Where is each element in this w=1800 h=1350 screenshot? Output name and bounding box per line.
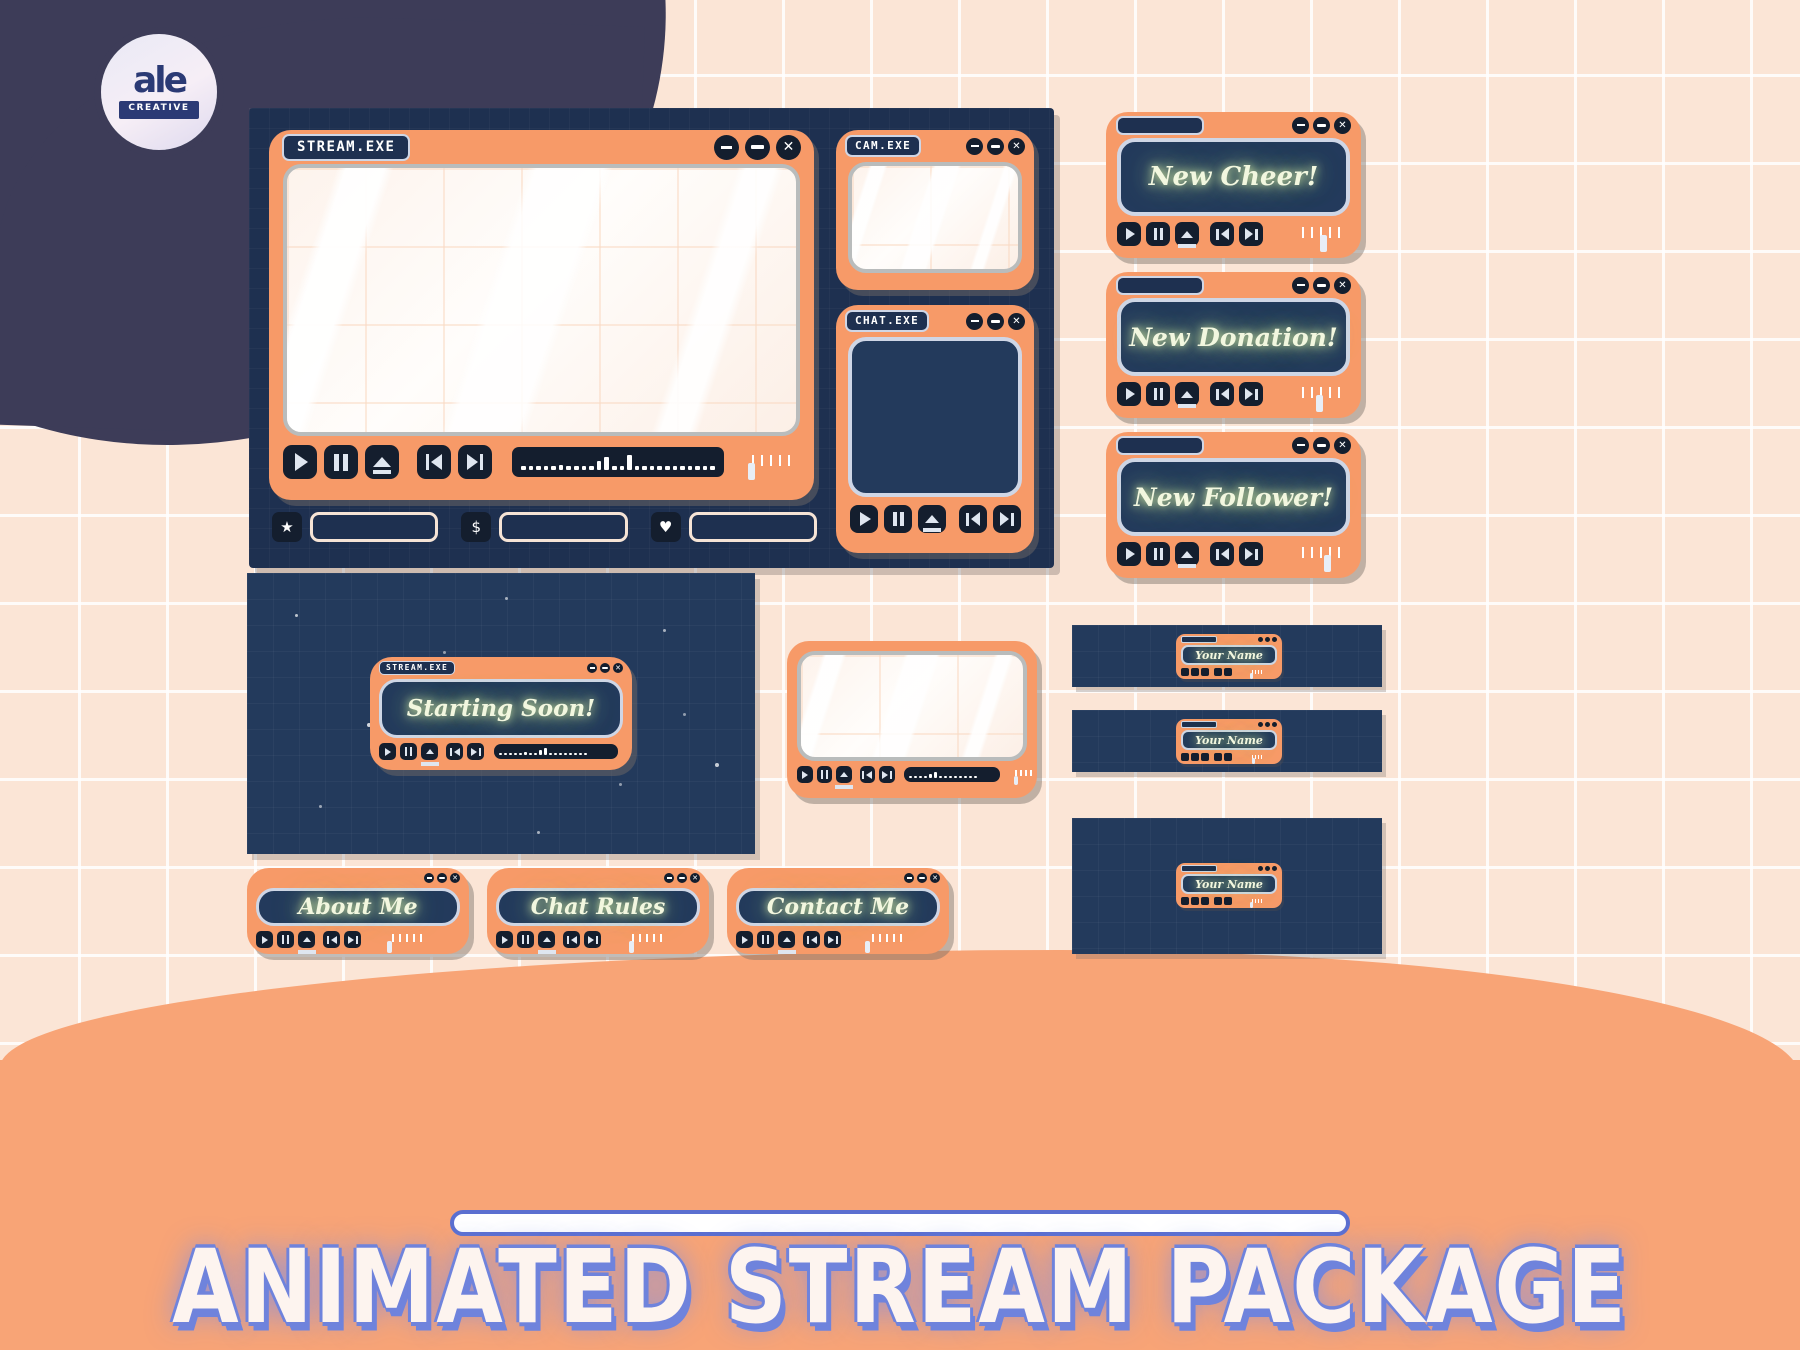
- play-icon[interactable]: [1117, 542, 1141, 566]
- maximize-icon[interactable]: [437, 873, 447, 883]
- maximize-icon[interactable]: [987, 313, 1004, 330]
- contact-window-controls[interactable]: ✕: [904, 873, 940, 883]
- about-window-controls[interactable]: ✕: [424, 873, 460, 883]
- cheer-tag-blank: [1116, 116, 1204, 135]
- panel-chat-rules[interactable]: ✕ Chat Rules: [487, 868, 709, 954]
- your-name-text-1: Your Name: [1195, 649, 1263, 662]
- banner2-window-controls[interactable]: [1258, 722, 1277, 727]
- eject-icon[interactable]: [538, 931, 555, 948]
- eject-icon[interactable]: [1201, 668, 1209, 676]
- eject-icon[interactable]: [421, 743, 438, 760]
- about-volume-slider[interactable]: [381, 934, 433, 945]
- pause-icon[interactable]: [1146, 382, 1170, 406]
- play-icon[interactable]: [1181, 753, 1189, 761]
- package-title: ANIMATED STREAM PACKAGE: [0, 1229, 1800, 1347]
- minimize-icon[interactable]: [1292, 117, 1309, 134]
- next-icon[interactable]: [584, 931, 601, 948]
- stream-tag: STREAM.EXE: [282, 134, 410, 161]
- small-cam-transport[interactable]: [787, 761, 1037, 783]
- banner-your-name-1: Your Name: [1072, 625, 1382, 687]
- pause-icon[interactable]: [277, 931, 294, 948]
- follower-window-controls[interactable]: ✕: [1292, 437, 1351, 454]
- contact-titlebar[interactable]: ✕: [727, 868, 949, 888]
- star-icon: ★: [272, 512, 302, 542]
- window-cam[interactable]: CAM.EXE ✕: [836, 130, 1034, 290]
- next-icon[interactable]: [1239, 542, 1263, 566]
- alert-window-donation[interactable]: ✕ New Donation!: [1106, 272, 1361, 418]
- close-icon[interactable]: ✕: [1334, 117, 1351, 134]
- starting-soon-text: Starting Soon!: [407, 695, 596, 722]
- banner-your-name-2: Your Name: [1072, 710, 1382, 772]
- follower-transport[interactable]: [1106, 536, 1361, 566]
- starting-tag: STREAM.EXE: [379, 661, 455, 675]
- cheer-text: New Cheer!: [1149, 162, 1319, 192]
- stream-equalizer: [512, 447, 724, 477]
- pause-icon[interactable]: [324, 445, 358, 479]
- next-icon[interactable]: [824, 931, 841, 948]
- play-icon[interactable]: [379, 743, 396, 760]
- donation-display: New Donation!: [1117, 298, 1350, 376]
- alert-window-follower[interactable]: ✕ New Follower!: [1106, 432, 1361, 578]
- play-icon[interactable]: [1181, 897, 1189, 905]
- maximize-icon[interactable]: [987, 138, 1004, 155]
- chat-window-controls[interactable]: ✕: [966, 313, 1025, 330]
- banner3-slider[interactable]: [1246, 899, 1268, 904]
- stat-bar-heart[interactable]: ♥: [651, 512, 817, 542]
- close-icon[interactable]: ✕: [613, 663, 623, 673]
- cheer-display: New Cheer!: [1117, 138, 1350, 216]
- next-icon[interactable]: [1239, 222, 1263, 246]
- donation-window-controls[interactable]: ✕: [1292, 277, 1351, 294]
- donation-tag-blank: [1116, 276, 1204, 295]
- banner1-tag-blank: [1181, 636, 1217, 643]
- previous-icon[interactable]: [1210, 222, 1234, 246]
- banner-your-name-3: Your Name: [1072, 818, 1382, 954]
- chat-rules-text: Chat Rules: [531, 894, 666, 920]
- window-chat[interactable]: CHAT.EXE ✕: [836, 305, 1034, 553]
- pause-icon[interactable]: [1146, 222, 1170, 246]
- pause-icon[interactable]: [1191, 668, 1199, 676]
- play-icon[interactable]: [850, 505, 878, 533]
- minimize-icon[interactable]: [587, 663, 597, 673]
- close-icon[interactable]: ✕: [1008, 313, 1025, 330]
- play-icon[interactable]: [736, 931, 753, 948]
- stream-screen-area: [283, 164, 800, 436]
- maximize-icon[interactable]: [1313, 277, 1330, 294]
- banner2-titlebar[interactable]: [1176, 719, 1282, 730]
- rules-volume-slider[interactable]: [621, 934, 673, 945]
- banner3-titlebar[interactable]: [1176, 863, 1282, 874]
- maximize-icon[interactable]: [677, 873, 687, 883]
- minimize-icon[interactable]: [904, 873, 914, 883]
- banner2-tag-blank: [1181, 721, 1217, 728]
- contact-transport[interactable]: [727, 926, 949, 948]
- eject-icon[interactable]: [778, 931, 795, 948]
- minimize-icon[interactable]: [1292, 277, 1309, 294]
- eject-icon[interactable]: [918, 505, 946, 533]
- previous-icon[interactable]: [803, 931, 820, 948]
- maximize-icon[interactable]: [1313, 117, 1330, 134]
- eject-icon[interactable]: [365, 445, 399, 479]
- contact-me-text: Contact Me: [767, 894, 909, 920]
- play-icon[interactable]: [1117, 222, 1141, 246]
- about-transport[interactable]: [247, 926, 469, 948]
- play-icon[interactable]: [1181, 668, 1189, 676]
- cam-tag: CAM.EXE: [845, 135, 921, 157]
- pause-icon[interactable]: [817, 766, 833, 783]
- alert-window-cheer[interactable]: ✕ New Cheer!: [1106, 112, 1361, 258]
- stream-skip-controls[interactable]: [417, 445, 492, 479]
- eject-icon[interactable]: [1175, 222, 1199, 246]
- stream-volume-slider[interactable]: [742, 455, 800, 469]
- previous-icon[interactable]: [1214, 668, 1222, 676]
- previous-icon[interactable]: [1210, 542, 1234, 566]
- eject-icon[interactable]: [1175, 542, 1199, 566]
- next-icon[interactable]: [1224, 668, 1232, 676]
- banner-window-2[interactable]: Your Name: [1176, 719, 1282, 764]
- panel-contact-me[interactable]: ✕ Contact Me: [727, 868, 949, 954]
- window-starting-soon[interactable]: STREAM.EXE ✕ Starting Soon!: [370, 657, 632, 770]
- follower-titlebar[interactable]: ✕: [1106, 432, 1361, 458]
- pause-icon[interactable]: [1191, 897, 1199, 905]
- maximize-icon[interactable]: [917, 873, 927, 883]
- banner1-window-controls[interactable]: [1258, 637, 1277, 642]
- banner2-transport[interactable]: [1176, 750, 1282, 761]
- donation-volume-slider[interactable]: [1290, 387, 1352, 401]
- maximize-icon[interactable]: [1265, 637, 1270, 642]
- maximize-icon[interactable]: [1265, 722, 1270, 727]
- next-icon[interactable]: [458, 445, 492, 479]
- close-icon[interactable]: [1272, 637, 1277, 642]
- close-icon[interactable]: ✕: [1334, 437, 1351, 454]
- close-icon[interactable]: ✕: [1008, 138, 1025, 155]
- close-icon[interactable]: [1272, 722, 1277, 727]
- minimize-icon[interactable]: [1258, 637, 1263, 642]
- previous-icon[interactable]: [959, 505, 987, 533]
- stream-window-controls[interactable]: ✕: [714, 135, 801, 160]
- previous-icon[interactable]: [446, 743, 463, 760]
- starting-titlebar[interactable]: STREAM.EXE ✕: [370, 657, 632, 679]
- cheer-transport[interactable]: [1106, 216, 1361, 246]
- next-icon[interactable]: [1224, 897, 1232, 905]
- cam-titlebar[interactable]: CAM.EXE ✕: [836, 130, 1034, 162]
- minimize-icon[interactable]: [1258, 866, 1263, 871]
- small-cam-equalizer: [904, 767, 1000, 782]
- rules-display: Chat Rules: [496, 888, 700, 926]
- play-icon[interactable]: [283, 445, 317, 479]
- play-icon[interactable]: [496, 931, 513, 948]
- eject-icon[interactable]: [1201, 897, 1209, 905]
- play-icon[interactable]: [1117, 382, 1141, 406]
- pause-icon[interactable]: [1191, 753, 1199, 761]
- previous-icon[interactable]: [1214, 897, 1222, 905]
- play-icon[interactable]: [256, 931, 273, 948]
- previous-icon[interactable]: [1214, 753, 1222, 761]
- previous-icon[interactable]: [323, 931, 340, 948]
- starting-window-controls[interactable]: ✕: [587, 663, 623, 673]
- stream-playback-controls[interactable]: [283, 445, 399, 479]
- previous-icon[interactable]: [860, 766, 876, 783]
- about-titlebar[interactable]: ✕: [247, 868, 469, 888]
- eject-icon[interactable]: [1201, 753, 1209, 761]
- close-icon[interactable]: ✕: [690, 873, 700, 883]
- maximize-icon[interactable]: [600, 663, 610, 673]
- window-stream[interactable]: STREAM.EXE ✕: [269, 130, 814, 500]
- chat-titlebar[interactable]: CHAT.EXE ✕: [836, 305, 1034, 337]
- starting-transport[interactable]: [370, 738, 632, 760]
- chat-screen-area: [848, 337, 1022, 497]
- banner3-display: Your Name: [1181, 874, 1277, 894]
- eject-icon[interactable]: [1175, 382, 1199, 406]
- brand-logo: ale CREATIVE: [101, 34, 217, 150]
- follower-tag-blank: [1116, 436, 1204, 455]
- close-icon[interactable]: [1272, 866, 1277, 871]
- about-display: About Me: [256, 888, 460, 926]
- star-progress-rail[interactable]: [310, 512, 438, 542]
- close-icon[interactable]: ✕: [1334, 277, 1351, 294]
- pause-icon[interactable]: [1146, 542, 1170, 566]
- follower-display: New Follower!: [1117, 458, 1350, 536]
- small-cam-screen: [797, 651, 1027, 761]
- stream-transport[interactable]: [269, 436, 814, 479]
- rules-window-controls[interactable]: ✕: [664, 873, 700, 883]
- next-icon[interactable]: [993, 505, 1021, 533]
- donation-titlebar[interactable]: ✕: [1106, 272, 1361, 298]
- panel-about-me[interactable]: ✕ About Me: [247, 868, 469, 954]
- banner1-transport[interactable]: [1176, 665, 1282, 676]
- chat-transport[interactable]: [836, 497, 1034, 533]
- dollar-icon: $: [461, 512, 491, 542]
- banner3-window-controls[interactable]: [1258, 866, 1277, 871]
- minimize-icon[interactable]: [664, 873, 674, 883]
- follower-text: New Follower!: [1134, 483, 1333, 512]
- your-name-text-2: Your Name: [1195, 734, 1263, 747]
- window-small-cam[interactable]: [787, 641, 1037, 798]
- cam-window-controls[interactable]: ✕: [966, 138, 1025, 155]
- cheer-volume-slider[interactable]: [1290, 227, 1352, 241]
- next-icon[interactable]: [344, 931, 361, 948]
- banner2-slider[interactable]: [1246, 755, 1268, 760]
- cheer-window-controls[interactable]: ✕: [1292, 117, 1351, 134]
- close-icon[interactable]: ✕: [776, 135, 801, 160]
- next-icon[interactable]: [879, 766, 895, 783]
- pause-icon[interactable]: [400, 743, 417, 760]
- next-icon[interactable]: [467, 743, 484, 760]
- starting-soon-scene: STREAM.EXE ✕ Starting Soon!: [247, 573, 755, 854]
- play-icon[interactable]: [797, 766, 813, 783]
- next-icon[interactable]: [1239, 382, 1263, 406]
- previous-icon[interactable]: [1210, 382, 1234, 406]
- maximize-icon[interactable]: [1313, 437, 1330, 454]
- banner-window-3[interactable]: Your Name: [1176, 863, 1282, 908]
- banner2-display: Your Name: [1181, 730, 1277, 750]
- contact-display: Contact Me: [736, 888, 940, 926]
- banner3-transport[interactable]: [1176, 894, 1282, 905]
- stat-bar-dollar[interactable]: $: [461, 512, 627, 542]
- banner1-display: Your Name: [1181, 645, 1277, 665]
- cam-screen-area: [848, 162, 1022, 273]
- eject-icon[interactable]: [298, 931, 315, 948]
- follower-volume-slider[interactable]: [1290, 547, 1352, 561]
- logo-subtitle: CREATIVE: [119, 101, 198, 119]
- pause-icon[interactable]: [757, 931, 774, 948]
- minimize-icon[interactable]: [714, 135, 739, 160]
- rules-titlebar[interactable]: ✕: [487, 868, 709, 888]
- maximize-icon[interactable]: [745, 135, 770, 160]
- minimize-icon[interactable]: [1258, 722, 1263, 727]
- close-icon[interactable]: ✕: [930, 873, 940, 883]
- previous-icon[interactable]: [563, 931, 580, 948]
- rules-transport[interactable]: [487, 926, 709, 948]
- banner1-slider[interactable]: [1246, 670, 1268, 675]
- previous-icon[interactable]: [417, 445, 451, 479]
- donation-text: New Donation!: [1129, 323, 1338, 352]
- donation-transport[interactable]: [1106, 376, 1361, 406]
- heart-icon: ♥: [651, 512, 681, 542]
- cheer-titlebar[interactable]: ✕: [1106, 112, 1361, 138]
- close-icon[interactable]: ✕: [450, 873, 460, 883]
- chat-tag: CHAT.EXE: [845, 310, 929, 332]
- stat-bar-star[interactable]: ★: [272, 512, 438, 542]
- small-cam-slider[interactable]: [1010, 770, 1037, 779]
- dollar-progress-rail[interactable]: [499, 512, 627, 542]
- pause-icon[interactable]: [517, 931, 534, 948]
- banner-window-1[interactable]: Your Name: [1176, 634, 1282, 679]
- about-me-text: About Me: [298, 894, 417, 920]
- eject-icon[interactable]: [836, 766, 852, 783]
- pause-icon[interactable]: [884, 505, 912, 533]
- logo-wordmark: ale: [133, 65, 185, 97]
- banner1-titlebar[interactable]: [1176, 634, 1282, 645]
- minimize-icon[interactable]: [966, 138, 983, 155]
- minimize-icon[interactable]: [1292, 437, 1309, 454]
- stat-bar-row: ★ $ ♥: [272, 512, 817, 542]
- banner3-tag-blank: [1181, 865, 1217, 872]
- minimize-icon[interactable]: [966, 313, 983, 330]
- starting-display: Starting Soon!: [379, 679, 623, 738]
- next-icon[interactable]: [1224, 753, 1232, 761]
- minimize-icon[interactable]: [424, 873, 434, 883]
- maximize-icon[interactable]: [1265, 866, 1270, 871]
- your-name-text-3: Your Name: [1195, 878, 1263, 891]
- stream-titlebar[interactable]: STREAM.EXE ✕: [269, 130, 814, 164]
- heart-progress-rail[interactable]: [689, 512, 817, 542]
- contact-volume-slider[interactable]: [861, 934, 913, 945]
- starting-equalizer: [494, 744, 618, 759]
